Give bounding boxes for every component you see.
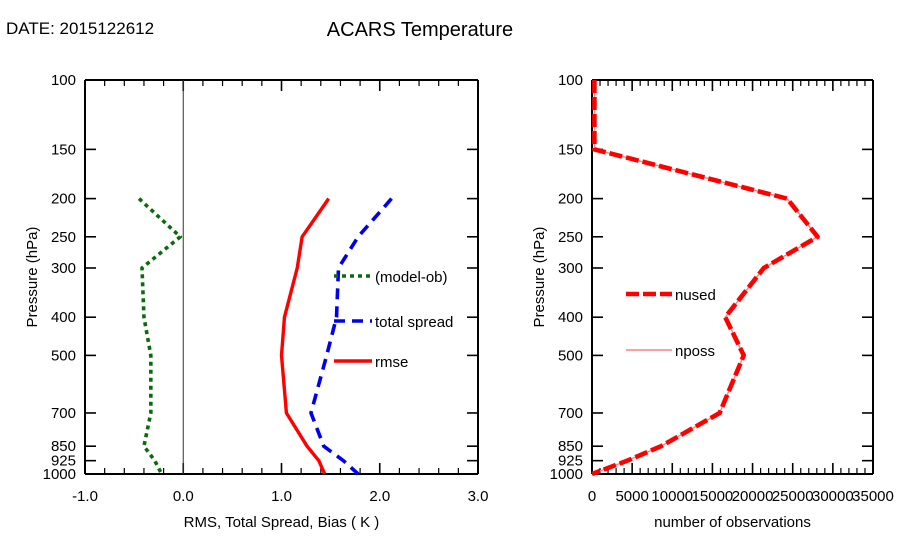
chart-canvas: DATE: 2015122612 ACARS Temperature 10015…: [0, 0, 900, 560]
page-title: ACARS Temperature: [327, 19, 513, 41]
y-tick-label: 150: [558, 141, 583, 158]
x-tick-label: 30000: [812, 488, 854, 505]
left-panel: 1001502002503004005007008509251000-1.00.…: [24, 72, 488, 531]
series--model-ob-: [139, 199, 180, 474]
x-tick-label: 1.0: [271, 488, 292, 505]
x-tick-label: 3.0: [468, 488, 489, 505]
y-tick-label: 300: [558, 260, 583, 277]
x-tick-label: 15000: [692, 488, 734, 505]
y-tick-label: 100: [51, 72, 76, 89]
x-tick-label: 0.0: [173, 488, 194, 505]
y-tick-label: 250: [51, 229, 76, 246]
x-tick-label: 25000: [772, 488, 814, 505]
right-panel: 1001502002503004005007008509251000050001…: [531, 72, 894, 531]
x-tick-label: 5000: [615, 488, 648, 505]
y-tick-label: 700: [558, 405, 583, 422]
x-tick-label: 10000: [651, 488, 693, 505]
x-axis-label: RMS, Total Spread, Bias ( K ): [184, 514, 380, 531]
y-tick-label: 100: [558, 72, 583, 89]
x-tick-label: 0: [588, 488, 596, 505]
acars-temperature-figure: DATE: 2015122612 ACARS Temperature 10015…: [0, 0, 900, 560]
series-nposs: [592, 80, 818, 474]
y-tick-label: 400: [51, 309, 76, 326]
series-nused: [592, 80, 818, 474]
y-tick-label: 500: [558, 347, 583, 364]
x-tick-label: 20000: [732, 488, 774, 505]
legend-label: rmse: [375, 354, 408, 371]
y-tick-label: 300: [51, 260, 76, 277]
date-label: DATE: 2015122612: [6, 19, 154, 38]
y-tick-label: 200: [558, 191, 583, 208]
y-tick-label: 150: [51, 141, 76, 158]
y-tick-label: 200: [51, 191, 76, 208]
series-total-spread: [311, 199, 392, 474]
y-tick-label: 500: [51, 347, 76, 364]
x-tick-label: -1.0: [72, 488, 98, 505]
series-rmse: [282, 199, 329, 474]
y-tick-label: 250: [558, 229, 583, 246]
x-tick-label: 2.0: [369, 488, 390, 505]
y-axis-label: Pressure (hPa): [531, 227, 548, 328]
x-axis-label: number of observations: [654, 514, 811, 531]
legend-label: total spread: [375, 314, 453, 331]
y-axis-label: Pressure (hPa): [24, 227, 41, 328]
legend-label: (model-ob): [375, 269, 448, 286]
y-tick-label: 1000: [550, 466, 583, 483]
legend-label: nposs: [675, 343, 715, 360]
y-tick-label: 400: [558, 309, 583, 326]
y-tick-label: 700: [51, 405, 76, 422]
x-tick-label: 35000: [852, 488, 894, 505]
y-tick-label: 1000: [43, 466, 76, 483]
legend-label: nused: [675, 287, 716, 304]
